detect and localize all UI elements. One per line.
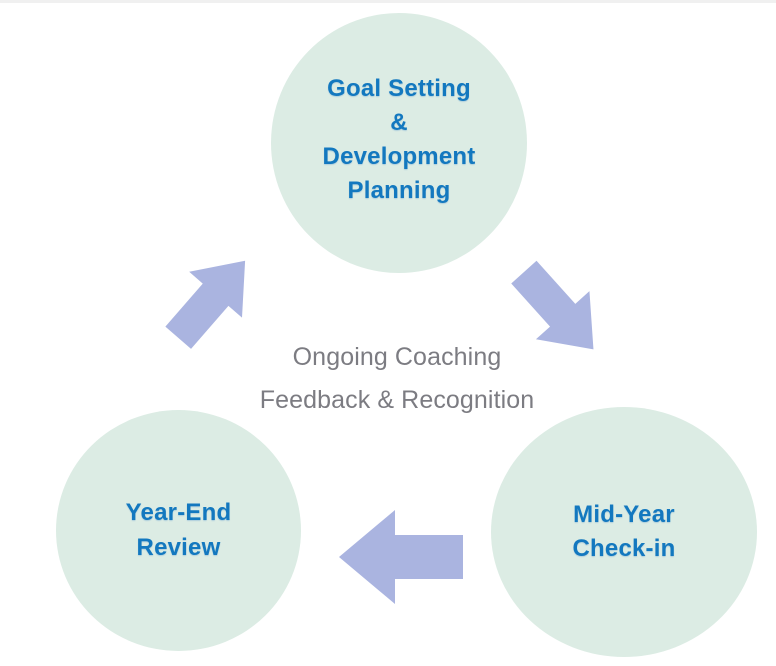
cycle-node-year-end-review[interactable]: Year-End Review [56, 410, 301, 651]
arrow-left-icon [337, 507, 465, 607]
arrow-down-right-icon [506, 255, 610, 365]
cycle-node-mid-year-check-in-label: Mid-Year Check-in [573, 498, 676, 566]
cycle-node-year-end-review-label: Year-End Review [126, 496, 232, 564]
top-edge-divider [0, 0, 776, 3]
cycle-node-goal-setting-label: Goal Setting & Development Planning [323, 72, 476, 214]
cycle-node-goal-setting[interactable]: Goal Setting & Development Planning [271, 13, 527, 273]
arrow-up-right-icon [160, 246, 262, 354]
center-caption-line-2: Feedback & Recognition [232, 379, 562, 422]
cycle-node-mid-year-check-in[interactable]: Mid-Year Check-in [491, 407, 757, 657]
cycle-diagram-canvas: Goal Setting & Development Planning Mid-… [0, 0, 776, 666]
